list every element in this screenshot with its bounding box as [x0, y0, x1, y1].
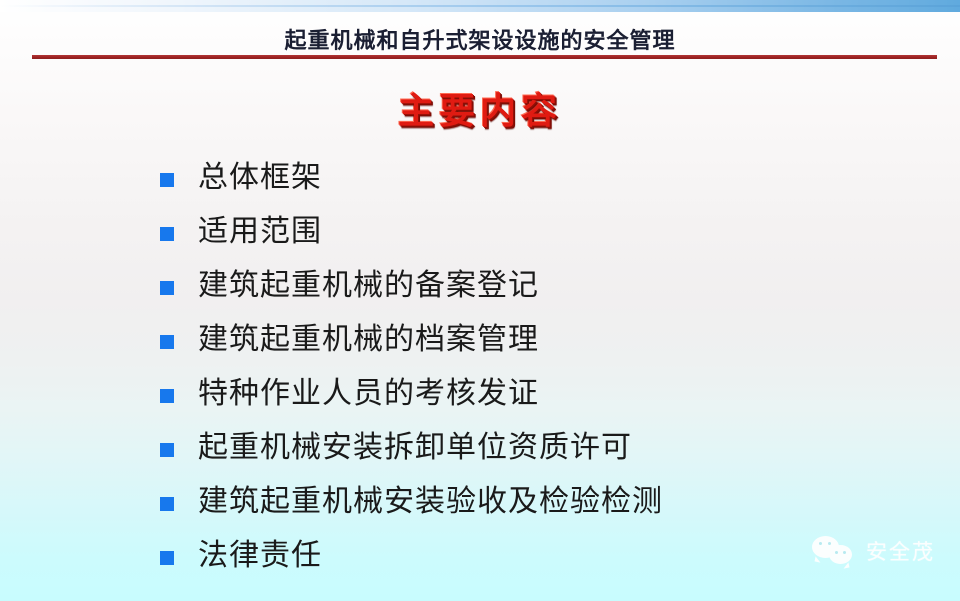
list-item-label: 总体框架 [198, 163, 322, 193]
slide-canvas: 起重机械和自升式架设设施的安全管理 主要内容 总体框架 适用范围 建筑起重机械的… [0, 0, 960, 601]
list-item: 建筑起重机械的备案登记 [160, 259, 920, 313]
square-bullet-icon [160, 497, 174, 511]
wechat-eye [835, 551, 838, 554]
list-item: 总体框架 [160, 151, 920, 205]
header-divider-rule [32, 55, 937, 59]
top-gradient-bar [0, 0, 960, 12]
list-item: 法律责任 [160, 529, 920, 583]
list-item: 特种作业人员的考核发证 [160, 367, 920, 421]
list-item-label: 建筑起重机械安装验收及检验检测 [198, 487, 663, 517]
wechat-icon [812, 534, 858, 568]
list-item-label: 适用范围 [198, 217, 322, 247]
square-bullet-icon [160, 227, 174, 241]
list-item: 建筑起重机械的档案管理 [160, 313, 920, 367]
list-item-label: 建筑起重机械的备案登记 [198, 271, 539, 301]
contents-list: 总体框架 适用范围 建筑起重机械的备案登记 建筑起重机械的档案管理 特种作业人员… [160, 151, 920, 583]
list-item-label: 建筑起重机械的档案管理 [198, 325, 539, 355]
watermark: 安全茂 [812, 534, 935, 568]
list-item: 适用范围 [160, 205, 920, 259]
square-bullet-icon [160, 443, 174, 457]
list-item-label: 特种作业人员的考核发证 [198, 379, 539, 409]
square-bullet-icon [160, 389, 174, 403]
list-item-label: 法律责任 [198, 541, 322, 571]
list-item: 建筑起重机械安装验收及检验检测 [160, 475, 920, 529]
square-bullet-icon [160, 335, 174, 349]
watermark-label: 安全茂 [866, 536, 935, 566]
square-bullet-icon [160, 281, 174, 295]
top-accent-line [0, 5, 960, 7]
wechat-bubble-small [829, 545, 852, 564]
section-heading: 主要内容 [0, 82, 960, 134]
wechat-eye [843, 551, 846, 554]
wechat-eye [819, 542, 822, 545]
square-bullet-icon [160, 173, 174, 187]
list-item: 起重机械安装拆卸单位资质许可 [160, 421, 920, 475]
square-bullet-icon [160, 551, 174, 565]
page-title: 起重机械和自升式架设设施的安全管理 [0, 23, 960, 55]
list-item-label: 起重机械安装拆卸单位资质许可 [198, 433, 632, 463]
wechat-eye [828, 542, 831, 545]
